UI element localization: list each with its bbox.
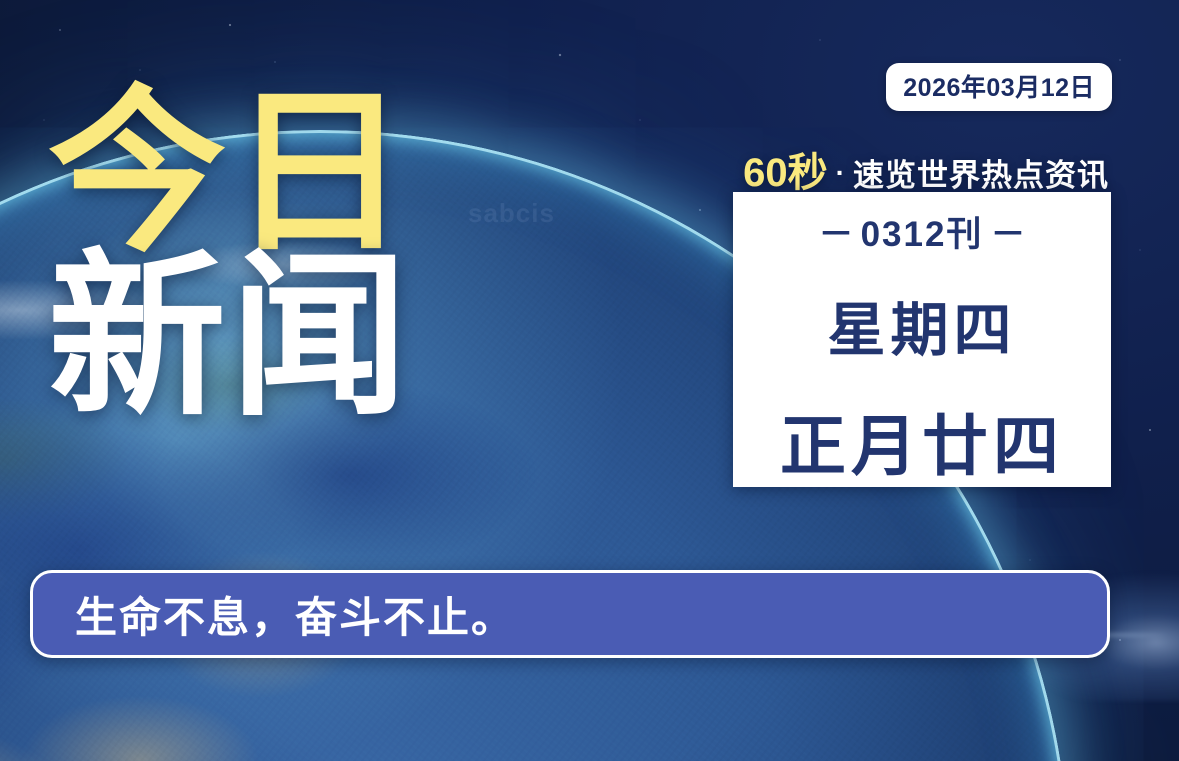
lunar-date-label: 正月廿四 [780, 393, 1064, 489]
weekday-label: 星期四 [827, 283, 1016, 367]
issue-dash-left-icon: － [812, 215, 861, 254]
page-title: 今日 新闻 [48, 86, 688, 425]
date-badge: 2026年03月12日 [886, 63, 1112, 111]
title-line-today: 今日 [48, 86, 688, 260]
quote-text: 生命不息，奋斗不止。 [75, 584, 515, 645]
issue-card: －0312刊－ 星期四 正月廿四 [733, 192, 1111, 487]
news-poster: sabcis 今日 新闻 2026年03月12日 60秒 · 速览世界热点资讯 … [0, 0, 1179, 761]
title-line-news: 新闻 [48, 250, 688, 424]
issue-dash-right-icon: － [983, 215, 1032, 254]
quote-bar: 生命不息，奋斗不止。 [30, 570, 1110, 658]
issue-number: 0312刊 [861, 215, 984, 254]
tagline: 60秒 · 速览世界热点资讯 [743, 140, 1109, 198]
tagline-subtitle: 速览世界热点资讯 [853, 150, 1109, 195]
issue-row: －0312刊－ [812, 206, 1033, 257]
tagline-separator-icon: · [828, 157, 853, 189]
tagline-seconds: 60秒 [743, 140, 828, 198]
